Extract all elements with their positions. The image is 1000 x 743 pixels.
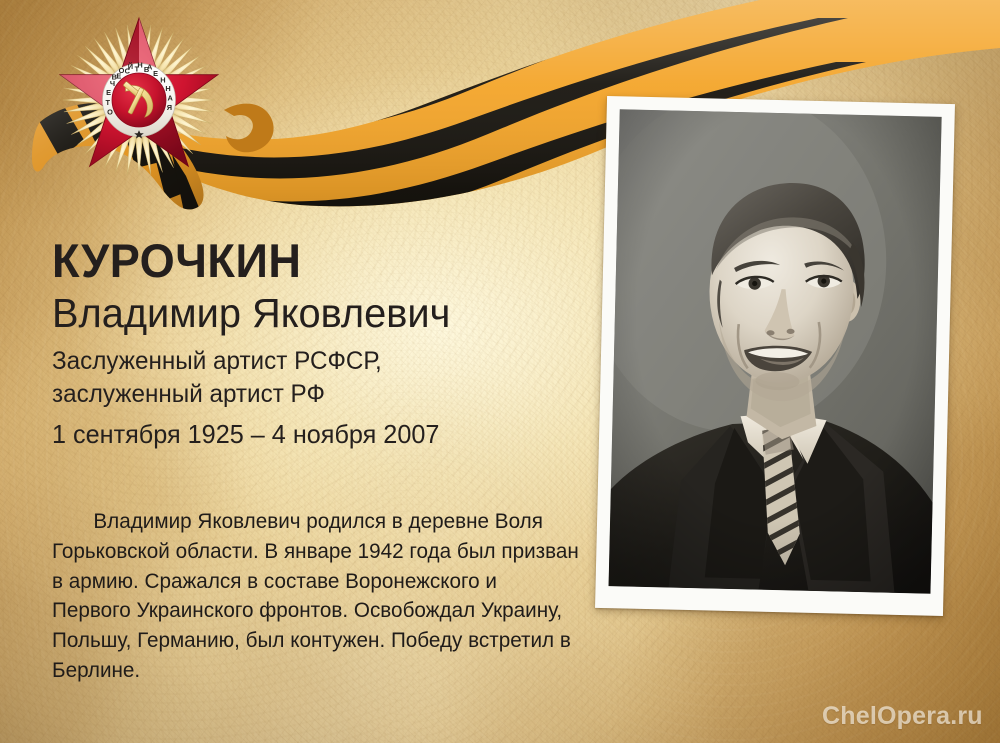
name-block: КУРОЧКИН Владимир Яковлевич Заслуженный … [52,236,592,451]
svg-text:Е: Е [106,88,111,97]
honorific-line-1: Заслуженный артист РСФСР, [52,345,576,378]
svg-text:О: О [119,66,125,75]
surname: КУРОЧКИН [52,236,570,286]
svg-text:А: А [147,63,153,72]
svg-text:Я: Я [167,103,172,112]
portrait-photo [609,109,942,593]
svg-text:А: А [168,93,174,102]
watermark: ChelOpera.ru [822,702,983,731]
given-name: Владимир Яковлевич [52,289,576,337]
honorific-line-2: заслуженный артист РФ [52,378,576,411]
svg-text:Й: Й [128,62,133,71]
portrait-photo-frame [595,96,955,616]
biography-text: Владимир Яковлевич родился в деревне Вол… [52,507,579,686]
memorial-card: О Т Е Ч Е С Т В Е Н Н А Я В О Й Н [0,0,1000,743]
svg-text:Н: Н [137,61,142,70]
svg-text:Н: Н [165,84,170,93]
life-dates: 1 сентября 1925 – 4 ноября 2007 [52,418,576,452]
order-of-the-patriotic-war-medal: О Т Е Ч Е С Т В Е Н Н А Я В О Й Н [34,8,244,188]
svg-text:В: В [112,73,117,82]
svg-text:Е: Е [153,69,158,78]
honorific-titles: Заслуженный артист РСФСР, заслуженный ар… [52,345,576,412]
svg-text:Т: Т [106,98,111,107]
svg-text:О: О [107,107,113,116]
